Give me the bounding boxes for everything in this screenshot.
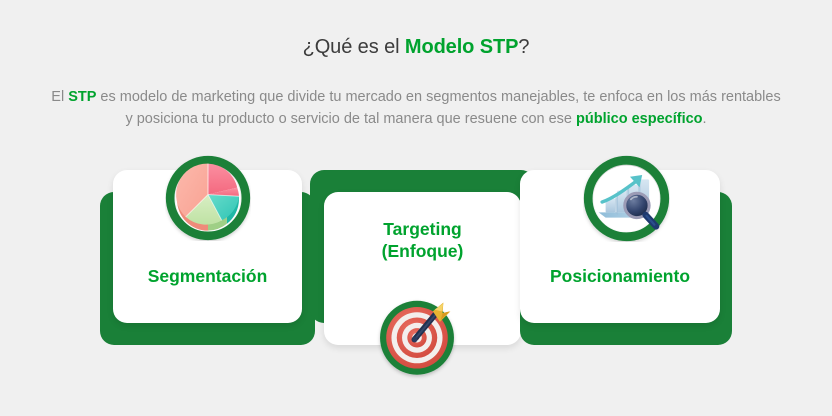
subtitle-highlight-publico: público específico bbox=[576, 111, 703, 127]
card-label-targeting: Targeting (Enfoque) bbox=[324, 218, 521, 262]
card-label-posicionamiento: Posicionamiento bbox=[520, 265, 720, 287]
growth-chart-magnifier-icon bbox=[583, 155, 670, 242]
card-label-segmentacion: Segmentación bbox=[113, 265, 302, 287]
title-prefix: ¿Qué es el bbox=[303, 36, 405, 58]
infographic-canvas: ¿Qué es el Modelo STP? El STP es modelo … bbox=[0, 0, 832, 416]
title-highlight: Modelo STP bbox=[405, 36, 518, 58]
subtitle-part-3: . bbox=[703, 111, 707, 127]
page-subtitle: El STP es modelo de marketing que divide… bbox=[46, 86, 786, 130]
target-dartboard-icon bbox=[373, 292, 461, 380]
subtitle-part-1: El bbox=[51, 89, 68, 105]
subtitle-highlight-stp: STP bbox=[68, 89, 96, 105]
title-suffix: ? bbox=[518, 36, 529, 58]
page-title: ¿Qué es el Modelo STP? bbox=[0, 36, 832, 59]
pie-chart-icon bbox=[165, 155, 251, 241]
